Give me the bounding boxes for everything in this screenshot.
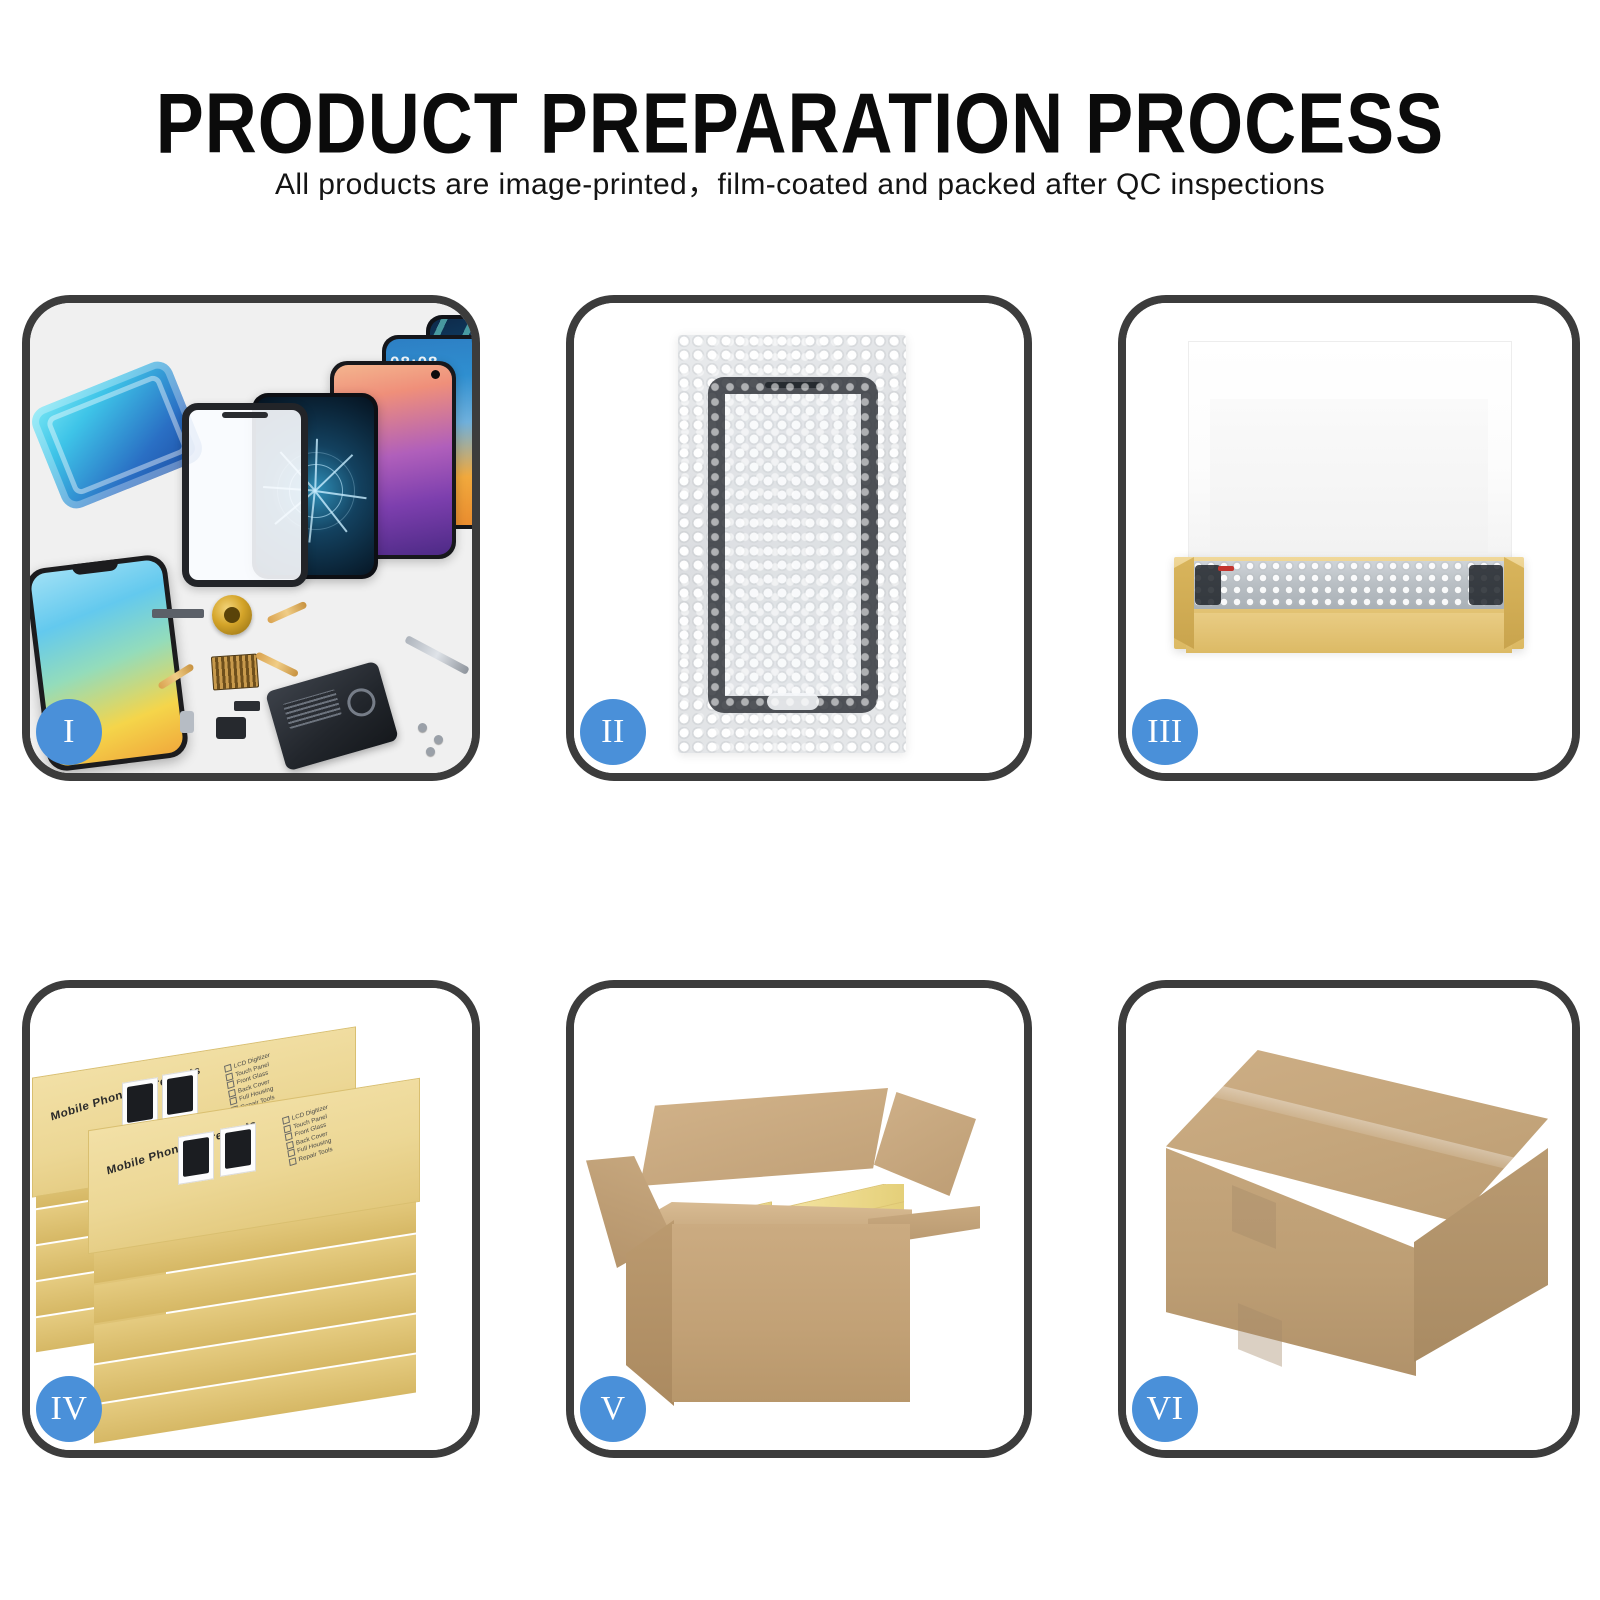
retail-box-stack: Mobile Phone Spare Parts LCD DigitizerTo… bbox=[30, 988, 472, 1450]
screw-part-a bbox=[418, 723, 427, 732]
adhesive-frame-part bbox=[30, 357, 207, 513]
step-6-image bbox=[1126, 988, 1572, 1450]
stacked-retail-boxes-illustration: Mobile Phone Spare Parts LCD DigitizerTo… bbox=[30, 988, 472, 1450]
carton-flap-right bbox=[874, 1092, 976, 1196]
process-step-panel-4: Mobile Phone Spare Parts LCD DigitizerTo… bbox=[22, 980, 480, 1458]
step-badge-3: III bbox=[1132, 699, 1198, 765]
bubble-wrapped-screen-illustration bbox=[574, 303, 1024, 773]
kraft-box-front-face bbox=[1186, 613, 1512, 653]
spare-parts-assortment-illustration: 08:08 bbox=[30, 303, 472, 773]
step-2-image bbox=[574, 303, 1024, 773]
step-badge-2: II bbox=[580, 699, 646, 765]
ic-chip-part bbox=[211, 653, 259, 690]
process-step-grid: 08:08 bbox=[0, 0, 1600, 1600]
retail-box-phone-image-front-b bbox=[220, 1123, 256, 1177]
logic-board-part bbox=[265, 661, 399, 772]
earpiece-part bbox=[152, 609, 204, 618]
phone-screen-assembly bbox=[708, 377, 878, 713]
kraft-box-lip-right bbox=[1504, 557, 1524, 649]
wrapped-screen-in-tray bbox=[1192, 561, 1506, 609]
kraft-box-lip-left bbox=[1174, 557, 1194, 649]
screen-in-open-box-illustration bbox=[1126, 303, 1572, 773]
process-step-panel-3: III bbox=[1118, 295, 1580, 781]
retail-box-phone-image-front-a bbox=[178, 1131, 214, 1185]
screw-part-b bbox=[434, 735, 443, 744]
process-step-panel-6: VI bbox=[1118, 980, 1580, 1458]
screw-part-c bbox=[426, 747, 435, 756]
process-step-panel-5: V bbox=[566, 980, 1032, 1458]
box-lid-inner-face bbox=[1210, 399, 1488, 553]
sim-tray-part bbox=[180, 711, 194, 733]
step-badge-1: I bbox=[36, 699, 102, 765]
screen-end-left bbox=[1195, 565, 1221, 605]
step-3-image bbox=[1126, 303, 1572, 773]
earpiece-slot bbox=[765, 382, 821, 388]
carton-front-face bbox=[672, 1224, 910, 1402]
step-4-image: Mobile Phone Spare Parts LCD DigitizerTo… bbox=[30, 988, 472, 1450]
carton-flap-back bbox=[640, 1088, 888, 1186]
step-badge-5: V bbox=[580, 1376, 646, 1442]
sealed-carton-illustration bbox=[1126, 988, 1572, 1450]
bubble-wrap-sheet bbox=[678, 335, 906, 753]
process-step-panel-1: 08:08 bbox=[22, 295, 480, 781]
home-button-cutout bbox=[767, 693, 819, 710]
process-step-panel-2: II bbox=[566, 295, 1032, 781]
screen-end-right bbox=[1469, 565, 1503, 605]
taptic-part bbox=[216, 717, 246, 739]
tweezers-tool bbox=[404, 635, 470, 675]
tempered-glass-protector bbox=[182, 403, 308, 587]
open-carton-illustration bbox=[574, 988, 1024, 1450]
flex-cable-part-a bbox=[266, 601, 307, 624]
step-badge-4: IV bbox=[36, 1376, 102, 1442]
step-badge-6: VI bbox=[1132, 1376, 1198, 1442]
red-marker bbox=[1218, 566, 1234, 571]
flex-cable-part-b bbox=[255, 651, 299, 677]
speaker-module-part bbox=[212, 595, 252, 635]
vibrator-part bbox=[234, 701, 260, 711]
step-1-image: 08:08 bbox=[30, 303, 472, 773]
step-5-image bbox=[574, 988, 1024, 1450]
